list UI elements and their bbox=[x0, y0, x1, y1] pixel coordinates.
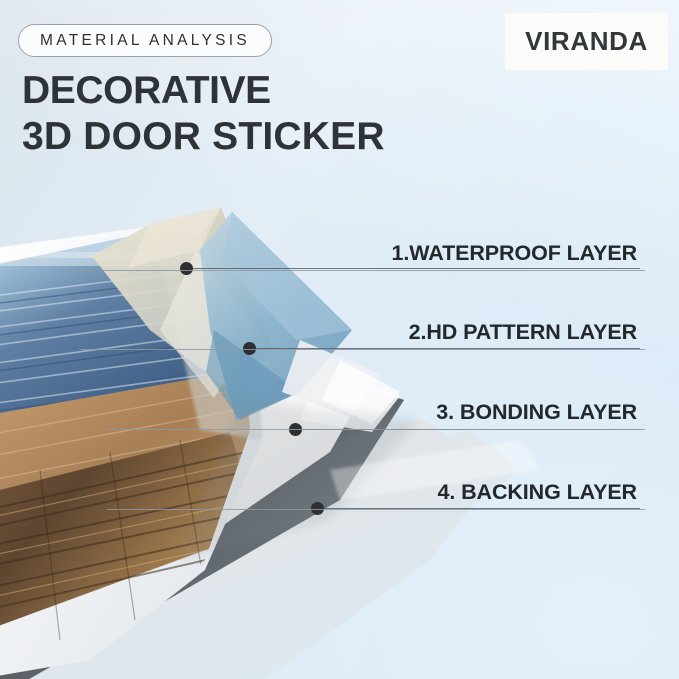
callout-label-backing: 4. BACKING LAYER bbox=[437, 480, 637, 508]
callout-label-bonding: 3. BONDING LAYER bbox=[436, 400, 637, 428]
callout-underline-backing bbox=[107, 509, 645, 510]
callout-backing: 4. BACKING LAYER bbox=[437, 480, 637, 508]
callout-underline-hd-pattern bbox=[79, 349, 645, 350]
callout-hd-pattern: 2.HD PATTERN LAYER bbox=[409, 320, 637, 348]
callout-underline-bonding bbox=[106, 429, 645, 430]
callout-bonding: 3. BONDING LAYER bbox=[436, 400, 637, 428]
material-analysis-infographic: MATERIAL ANALYSIS DECORATIVE 3D DOOR STI… bbox=[0, 0, 679, 679]
layer-callouts: 1.WATERPROOF LAYER 2.HD PATTERN LAYER 3.… bbox=[0, 0, 679, 679]
callout-label-waterproof: 1.WATERPROOF LAYER bbox=[392, 241, 637, 269]
callout-label-hd-pattern: 2.HD PATTERN LAYER bbox=[409, 320, 637, 348]
callout-underline-waterproof bbox=[62, 270, 645, 271]
callout-dot-waterproof bbox=[180, 262, 193, 275]
callout-waterproof: 1.WATERPROOF LAYER bbox=[392, 241, 637, 269]
